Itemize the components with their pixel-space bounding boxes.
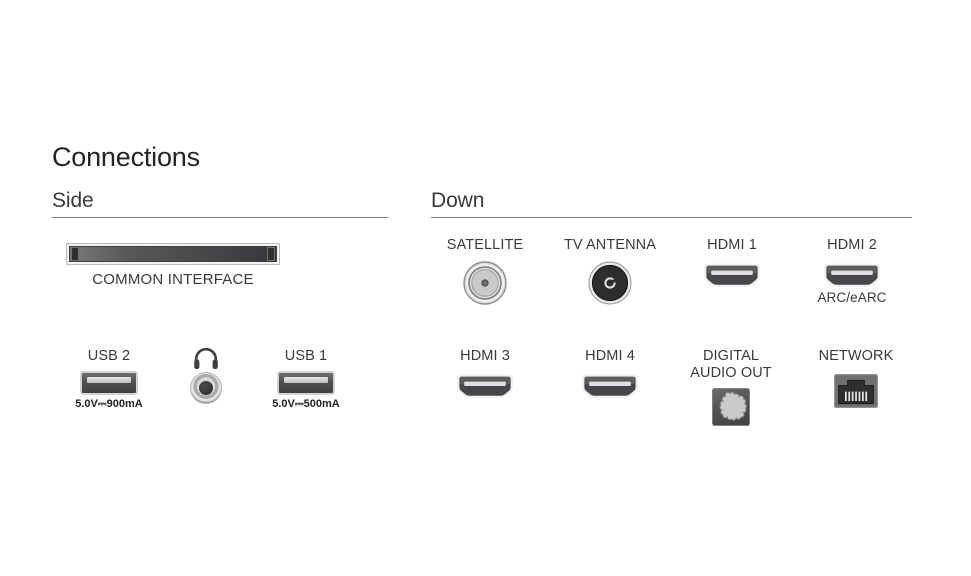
port-hdmi-1: HDMI 1	[679, 237, 785, 288]
satellite-label: SATELLITE	[430, 237, 540, 254]
port-usb-2: USB 2 5.0V⎓900mA	[63, 348, 155, 411]
digital-audio-out-label-line2: AUDIO OUT	[669, 365, 793, 382]
section-side-rule	[52, 217, 388, 218]
usb-port-bar	[284, 377, 328, 383]
usb-port-icon	[80, 371, 138, 395]
section-side-label: Side	[52, 188, 388, 214]
satellite-coax-icon	[463, 261, 507, 305]
port-headphone	[180, 348, 232, 404]
hdmi-1-label: HDMI 1	[679, 237, 785, 254]
optical-audio-icon	[712, 388, 750, 426]
headphone-jack-icon	[190, 372, 222, 404]
port-tv-antenna: TV ANTENNA	[549, 237, 671, 305]
page-title: Connections	[52, 142, 200, 173]
network-label: NETWORK	[800, 348, 912, 365]
hdmi-3-label: HDMI 3	[432, 348, 538, 365]
ci-slot-icon	[66, 243, 280, 265]
port-common-interface: COMMON INTERFACE	[66, 243, 280, 265]
usb-2-spec: 5.0V⎓900mA	[63, 398, 155, 411]
port-digital-audio-out: DIGITAL AUDIO OUT	[669, 348, 793, 426]
port-hdmi-2: HDMI 2 ARC/eARC	[797, 237, 907, 306]
connections-diagram: Connections Side Down COMMON INTERFACE U…	[0, 0, 971, 576]
usb-port-bar	[87, 377, 131, 383]
port-hdmi-3: HDMI 3	[432, 348, 538, 399]
usb-1-spec: 5.0V⎓500mA	[260, 398, 352, 411]
hdmi-port-icon	[701, 262, 763, 288]
port-network: NETWORK	[800, 348, 912, 408]
headphone-icon	[193, 348, 219, 370]
port-hdmi-4: HDMI 4	[557, 348, 663, 399]
port-usb-1: USB 1 5.0V⎓500mA	[260, 348, 352, 411]
ci-slot-end-left	[71, 247, 79, 261]
section-down: Down	[431, 188, 912, 218]
section-down-rule	[431, 217, 912, 218]
ci-slot-inner	[69, 246, 277, 262]
ci-slot-end-right	[267, 247, 275, 261]
hdmi-2-label: HDMI 2	[797, 237, 907, 254]
rj45-network-icon	[834, 374, 878, 408]
usb-port-icon	[277, 371, 335, 395]
hdmi-port-icon	[579, 373, 641, 399]
section-down-label: Down	[431, 188, 912, 214]
hdmi-port-icon	[454, 373, 516, 399]
common-interface-label: COMMON INTERFACE	[66, 271, 280, 288]
digital-audio-out-label-line1: DIGITAL	[669, 348, 793, 365]
usb-2-label: USB 2	[63, 348, 155, 365]
port-satellite: SATELLITE	[430, 237, 540, 305]
usb-1-label: USB 1	[260, 348, 352, 365]
hdmi-port-icon	[821, 262, 883, 288]
antenna-coax-icon	[588, 261, 632, 305]
tv-antenna-label: TV ANTENNA	[549, 237, 671, 254]
hdmi-2-sublabel: ARC/eARC	[797, 290, 907, 306]
hdmi-4-label: HDMI 4	[557, 348, 663, 365]
section-side: Side	[52, 188, 388, 218]
